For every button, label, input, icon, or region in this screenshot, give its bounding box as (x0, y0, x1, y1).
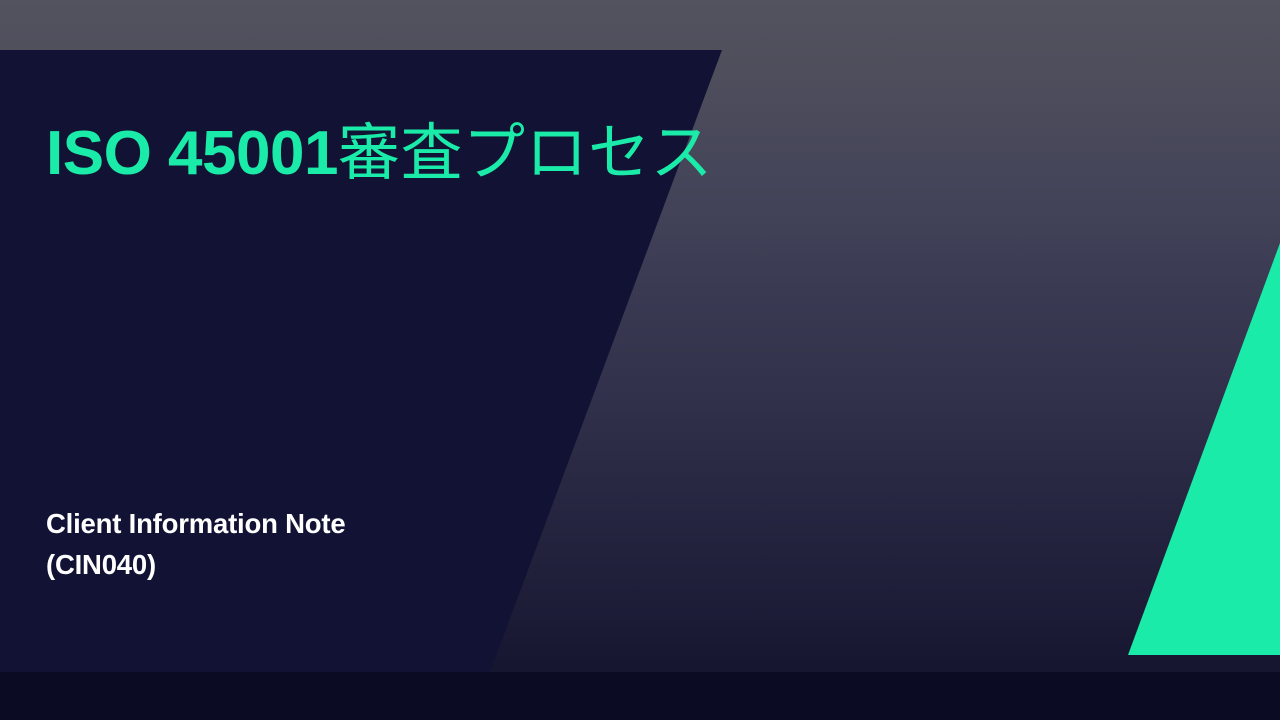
decorative-shapes (0, 0, 1280, 720)
title-slide: ISO 45001審査プロセス Client Information Note … (0, 0, 1280, 720)
page-title: ISO 45001審査プロセス (46, 118, 826, 188)
green-accent-triangle (1128, 243, 1280, 655)
page-subtitle-line-1: Client Information Note (46, 503, 606, 544)
page-subtitle: Client Information Note (CIN040) (46, 503, 606, 585)
page-title-latin: ISO 45001 (46, 119, 338, 188)
page-title-japanese: 審査プロセス (338, 116, 713, 189)
bottom-dark-band (0, 672, 1280, 720)
page-subtitle-line-2: (CIN040) (46, 544, 606, 585)
